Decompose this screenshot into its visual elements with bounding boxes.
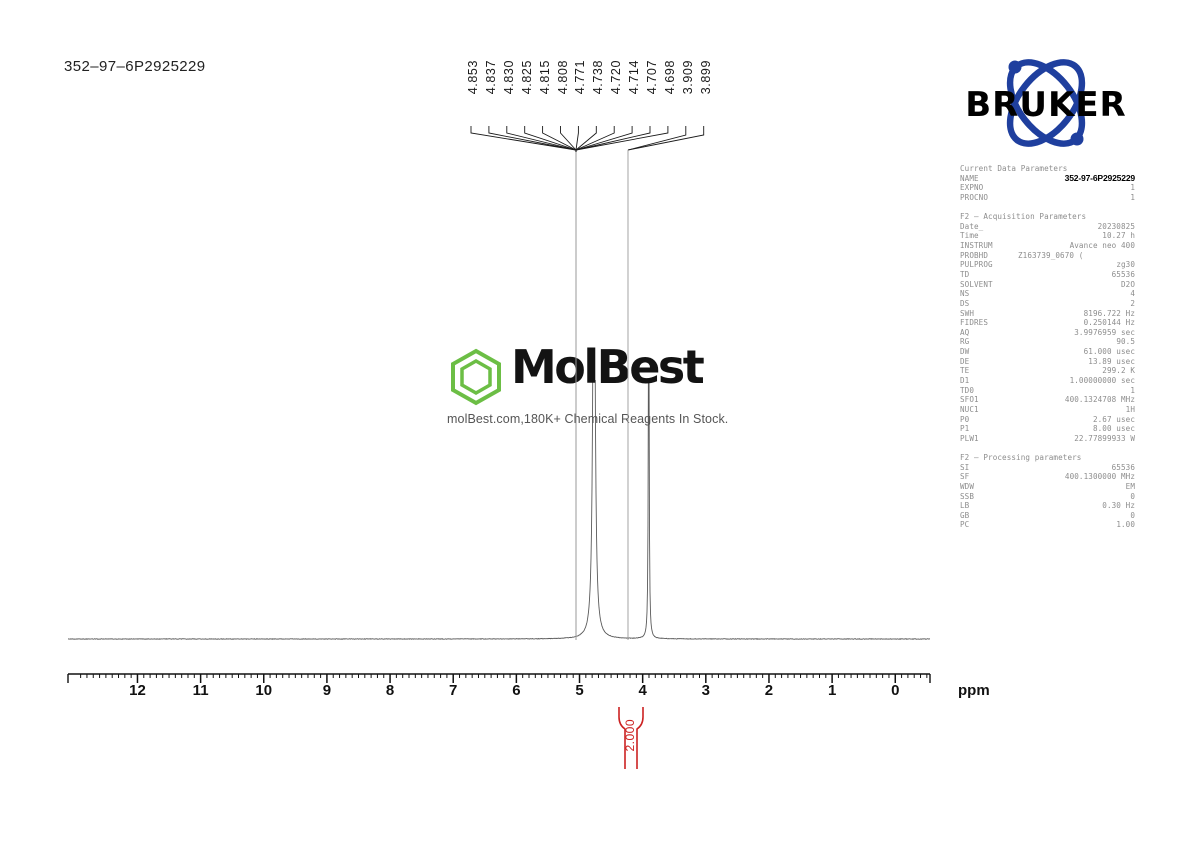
parameter-key: DS xyxy=(960,299,969,309)
parameter-row: PROCNO1 xyxy=(960,193,1135,203)
axis-tick-label: 11 xyxy=(193,682,209,699)
peak-label: 3.909 xyxy=(682,60,695,94)
peak-label: 4.738 xyxy=(592,60,605,94)
parameter-key: WDW xyxy=(960,482,974,492)
bruker-logo: BRUKER xyxy=(955,52,1137,154)
parameter-row: PLW122.77899933 W xyxy=(960,434,1135,444)
parameter-key: PULPROG xyxy=(960,260,993,270)
parameter-value: 90.5 xyxy=(1116,337,1135,347)
parameter-value: 1H xyxy=(1126,405,1135,415)
parameter-key: RG xyxy=(960,337,969,347)
axis-tick-label-group: ppm 1211109876543210 xyxy=(60,682,950,704)
peak-label: 4.815 xyxy=(539,60,552,94)
parameter-key: NS xyxy=(960,289,969,299)
parameter-row: NUC11H xyxy=(960,405,1135,415)
parameter-key: FIDRES xyxy=(960,318,988,328)
parameter-row: TE299.2 K xyxy=(960,366,1135,376)
parameter-value: EM xyxy=(1126,482,1135,492)
integral-group: 2.000 xyxy=(598,703,668,773)
parameter-value: 3.9976959 sec xyxy=(1074,328,1135,338)
parameter-row: WDWEM xyxy=(960,482,1135,492)
peak-label: 3.899 xyxy=(700,60,713,94)
peak-label: 4.853 xyxy=(467,60,480,94)
parameter-value: 0 xyxy=(1130,511,1135,521)
parameter-key: PROCNO xyxy=(960,193,988,203)
parameter-key: D1 xyxy=(960,376,969,386)
parameter-key: GB xyxy=(960,511,969,521)
parameter-value: D2O xyxy=(1121,280,1135,290)
parameter-key: SOLVENT xyxy=(960,280,993,290)
parameters-section-header-acquisition: F2 ‒ Acquisition Parameters xyxy=(960,212,1135,222)
axis-tick-label: 5 xyxy=(575,682,583,699)
parameter-row: EXPNO1 xyxy=(960,183,1135,193)
parameter-row: GB0 xyxy=(960,511,1135,521)
parameter-value: 10.27 h xyxy=(1102,231,1135,241)
acquisition-parameter-block: Current Data Parameters NAME352-97-6P292… xyxy=(960,164,1135,530)
parameter-row: FIDRES0.250144 Hz xyxy=(960,318,1135,328)
parameter-row: TD65536 xyxy=(960,270,1135,280)
parameter-row: SOLVENTD2O xyxy=(960,280,1135,290)
axis-tick-label: 1 xyxy=(828,682,836,699)
parameter-key: Time xyxy=(960,231,979,241)
parameter-value: 65536 xyxy=(1112,463,1135,473)
parameter-row: P02.67 usec xyxy=(960,415,1135,425)
parameter-value: 0.30 Hz xyxy=(1102,501,1135,511)
parameter-value: 8196.722 Hz xyxy=(1084,309,1135,319)
axis-tick-label: 9 xyxy=(323,682,331,699)
parameter-row: PULPROGzg30 xyxy=(960,260,1135,270)
parameter-value: Z163739_0670 ( xyxy=(1018,251,1083,261)
parameter-row: TD01 xyxy=(960,386,1135,396)
axis-tick-label: 12 xyxy=(129,682,146,699)
parameter-row: PC1.00 xyxy=(960,520,1135,530)
parameter-key: INSTRUM xyxy=(960,241,993,251)
parameter-row: DS2 xyxy=(960,299,1135,309)
parameter-value: 1 xyxy=(1130,183,1135,193)
page-title: 352‒97‒6P2925229 xyxy=(64,58,206,75)
parameter-row: INSTRUMAvance neo 400 xyxy=(960,241,1135,251)
parameter-key: SF xyxy=(960,472,969,482)
parameter-key: SSB xyxy=(960,492,974,502)
axis-tick-label: 4 xyxy=(638,682,646,699)
parameter-value: 0 xyxy=(1130,492,1135,502)
parameters-section-current: NAME352-97-6P2925229EXPNO1PROCNO1 xyxy=(960,174,1135,203)
parameter-key: P0 xyxy=(960,415,969,425)
axis-tick-label: 2 xyxy=(765,682,773,699)
parameter-key: Date_ xyxy=(960,222,983,232)
parameter-value: 13.89 usec xyxy=(1088,357,1135,367)
parameter-row: P18.00 usec xyxy=(960,424,1135,434)
parameter-value: 1.00 xyxy=(1116,520,1135,530)
parameter-key: SFO1 xyxy=(960,395,979,405)
peak-label: 4.720 xyxy=(610,60,623,94)
axis-tick-label: 0 xyxy=(891,682,899,699)
peak-connector-lines xyxy=(440,126,740,152)
parameter-key: EXPNO xyxy=(960,183,983,193)
parameter-value: 2 xyxy=(1130,299,1135,309)
parameters-section-header-processing: F2 ‒ Processing parameters xyxy=(960,453,1135,463)
parameter-key: TE xyxy=(960,366,969,376)
parameter-key: DW xyxy=(960,347,969,357)
bruker-atom-icon: BRUKER xyxy=(955,52,1137,154)
spectrum-polyline xyxy=(68,380,930,639)
parameter-value: 22.77899933 W xyxy=(1074,434,1135,444)
parameter-key: PLW1 xyxy=(960,434,979,444)
peak-label: 4.771 xyxy=(574,60,587,94)
parameter-key: PROBHD xyxy=(960,251,988,261)
parameter-row: DE13.89 usec xyxy=(960,357,1135,367)
parameter-key: TD0 xyxy=(960,386,974,396)
parameters-section-acquisition: Date_20230825Time10.27 hINSTRUMAvance ne… xyxy=(960,222,1135,444)
parameter-row: Date_20230825 xyxy=(960,222,1135,232)
bruker-wordmark: BRUKER xyxy=(965,85,1126,125)
axis-tick-label: 6 xyxy=(512,682,520,699)
parameter-row: NS4 xyxy=(960,289,1135,299)
peak-label: 4.698 xyxy=(664,60,677,94)
parameter-row: AQ3.9976959 sec xyxy=(960,328,1135,338)
integral-value-label: 2.000 xyxy=(624,719,636,752)
axis-tick-label: 10 xyxy=(255,682,272,699)
parameter-value: 352-97-6P2925229 xyxy=(1065,174,1135,184)
parameter-value: 2.67 usec xyxy=(1093,415,1135,425)
peak-label: 4.707 xyxy=(646,60,659,94)
parameter-value: 400.1324708 MHz xyxy=(1065,395,1135,405)
parameter-row: SWH8196.722 Hz xyxy=(960,309,1135,319)
peak-label: 4.714 xyxy=(628,60,641,94)
parameter-value: 1 xyxy=(1130,193,1135,203)
parameter-row: LB0.30 Hz xyxy=(960,501,1135,511)
parameter-value: 8.00 usec xyxy=(1093,424,1135,434)
parameter-row: SFO1400.1324708 MHz xyxy=(960,395,1135,405)
parameter-row: D11.00000000 sec xyxy=(960,376,1135,386)
parameter-key: LB xyxy=(960,501,969,511)
parameter-row: NAME352-97-6P2925229 xyxy=(960,174,1135,184)
parameter-row: SI65536 xyxy=(960,463,1135,473)
parameter-key: PC xyxy=(960,520,969,530)
parameter-row: SF400.1300000 MHz xyxy=(960,472,1135,482)
axis-tick-label: 7 xyxy=(449,682,457,699)
parameter-key: SI xyxy=(960,463,969,473)
peak-label: 4.825 xyxy=(521,60,534,94)
parameter-row: DW61.000 usec xyxy=(960,347,1135,357)
parameter-value: 1 xyxy=(1130,386,1135,396)
parameter-key: TD xyxy=(960,270,969,280)
parameter-key: P1 xyxy=(960,424,969,434)
axis-tick-label: 8 xyxy=(386,682,394,699)
parameter-value: 400.1300000 MHz xyxy=(1065,472,1135,482)
peak-label: 4.830 xyxy=(503,60,516,94)
parameters-section-processing: SI65536SF400.1300000 MHzWDWEMSSB0LB0.30 … xyxy=(960,463,1135,530)
peak-label: 4.808 xyxy=(557,60,570,94)
parameter-value: 1.00000000 sec xyxy=(1070,376,1135,386)
peak-label: 4.837 xyxy=(485,60,498,94)
parameter-value: 299.2 K xyxy=(1102,366,1135,376)
parameter-value: 65536 xyxy=(1112,270,1135,280)
spectrum-trace xyxy=(60,380,950,650)
parameter-row: RG90.5 xyxy=(960,337,1135,347)
parameter-key: DE xyxy=(960,357,969,367)
parameter-row: SSB0 xyxy=(960,492,1135,502)
nmr-spectrum-page: 352‒97‒6P2925229 BRUKER Current Data Par… xyxy=(0,0,1190,842)
parameter-value: 4 xyxy=(1130,289,1135,299)
parameter-key: NAME xyxy=(960,174,979,184)
axis-unit-label: ppm xyxy=(958,682,990,699)
parameter-key: SWH xyxy=(960,309,974,319)
axis-tick-label: 3 xyxy=(702,682,710,699)
parameter-value: 0.250144 Hz xyxy=(1084,318,1135,328)
parameter-row: PROBHDZ163739_0670 ( xyxy=(960,251,1135,261)
parameter-row: Time10.27 h xyxy=(960,231,1135,241)
parameter-value: 61.000 usec xyxy=(1084,347,1135,357)
parameter-value: Avance neo 400 xyxy=(1070,241,1135,251)
parameter-value: zg30 xyxy=(1116,260,1135,270)
parameter-key: AQ xyxy=(960,328,969,338)
parameter-key: NUC1 xyxy=(960,405,979,415)
parameter-value: 20230825 xyxy=(1098,222,1135,232)
